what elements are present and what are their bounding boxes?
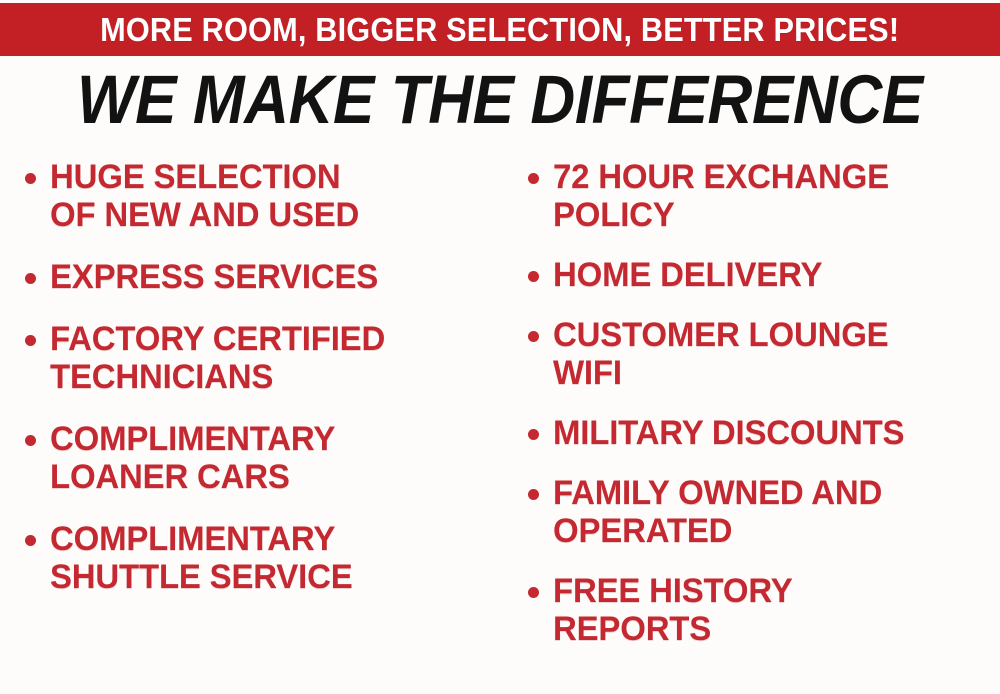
feature-item: FACTORY CERTIFIED TECHNICIANS (14, 320, 500, 396)
feature-item: EXPRESS SERVICES (14, 258, 500, 296)
feature-label: HOME DELIVERY (553, 256, 987, 294)
bullet-dot-icon (528, 587, 539, 598)
bullet-dot-icon (528, 429, 539, 440)
feature-item: COMPLIMENTARY SHUTTLE SERVICE (14, 520, 500, 596)
headline-text: WE MAKE THE DIFFERENCE (77, 64, 923, 136)
feature-label: FAMILY OWNED AND OPERATED (553, 474, 987, 550)
bullet-dot-icon (528, 331, 539, 342)
feature-label: CUSTOMER LOUNGE WIFI (553, 316, 987, 392)
headline-container: WE MAKE THE DIFFERENCE (0, 64, 1000, 136)
feature-label: MILITARY DISCOUNTS (553, 414, 987, 452)
feature-label: COMPLIMENTARY LOANER CARS (50, 420, 487, 496)
features-columns: HUGE SELECTION OF NEW AND USED EXPRESS S… (0, 158, 1000, 694)
feature-label: 72 HOUR EXCHANGE POLICY (553, 158, 987, 234)
bullet-dot-icon (528, 271, 539, 282)
feature-item: COMPLIMENTARY LOANER CARS (14, 420, 500, 496)
feature-item: FREE HISTORY REPORTS (517, 572, 1000, 648)
feature-item: FAMILY OWNED AND OPERATED (517, 474, 1000, 550)
bullet-dot-icon (528, 489, 539, 500)
promotional-banner: MORE ROOM, BIGGER SELECTION, BETTER PRIC… (0, 0, 1000, 694)
bullet-dot-icon (25, 535, 36, 546)
feature-label: EXPRESS SERVICES (50, 258, 487, 296)
features-column-left: HUGE SELECTION OF NEW AND USED EXPRESS S… (14, 158, 500, 694)
header-banner-bar: MORE ROOM, BIGGER SELECTION, BETTER PRIC… (0, 3, 1000, 56)
feature-item: 72 HOUR EXCHANGE POLICY (517, 158, 1000, 234)
header-banner-text: MORE ROOM, BIGGER SELECTION, BETTER PRIC… (100, 13, 899, 46)
bullet-dot-icon (25, 335, 36, 346)
feature-item: CUSTOMER LOUNGE WIFI (517, 316, 1000, 392)
bullet-dot-icon (25, 173, 36, 184)
feature-label: COMPLIMENTARY SHUTTLE SERVICE (50, 520, 487, 596)
feature-item: HOME DELIVERY (517, 256, 1000, 294)
feature-item: HUGE SELECTION OF NEW AND USED (14, 158, 500, 234)
feature-item: MILITARY DISCOUNTS (517, 414, 1000, 452)
features-column-right: 72 HOUR EXCHANGE POLICY HOME DELIVERY CU… (517, 158, 1000, 694)
bullet-dot-icon (25, 435, 36, 446)
feature-label: FREE HISTORY REPORTS (553, 572, 987, 648)
feature-label: HUGE SELECTION OF NEW AND USED (50, 158, 487, 234)
bullet-dot-icon (528, 173, 539, 184)
bullet-dot-icon (25, 273, 36, 284)
feature-label: FACTORY CERTIFIED TECHNICIANS (50, 320, 487, 396)
